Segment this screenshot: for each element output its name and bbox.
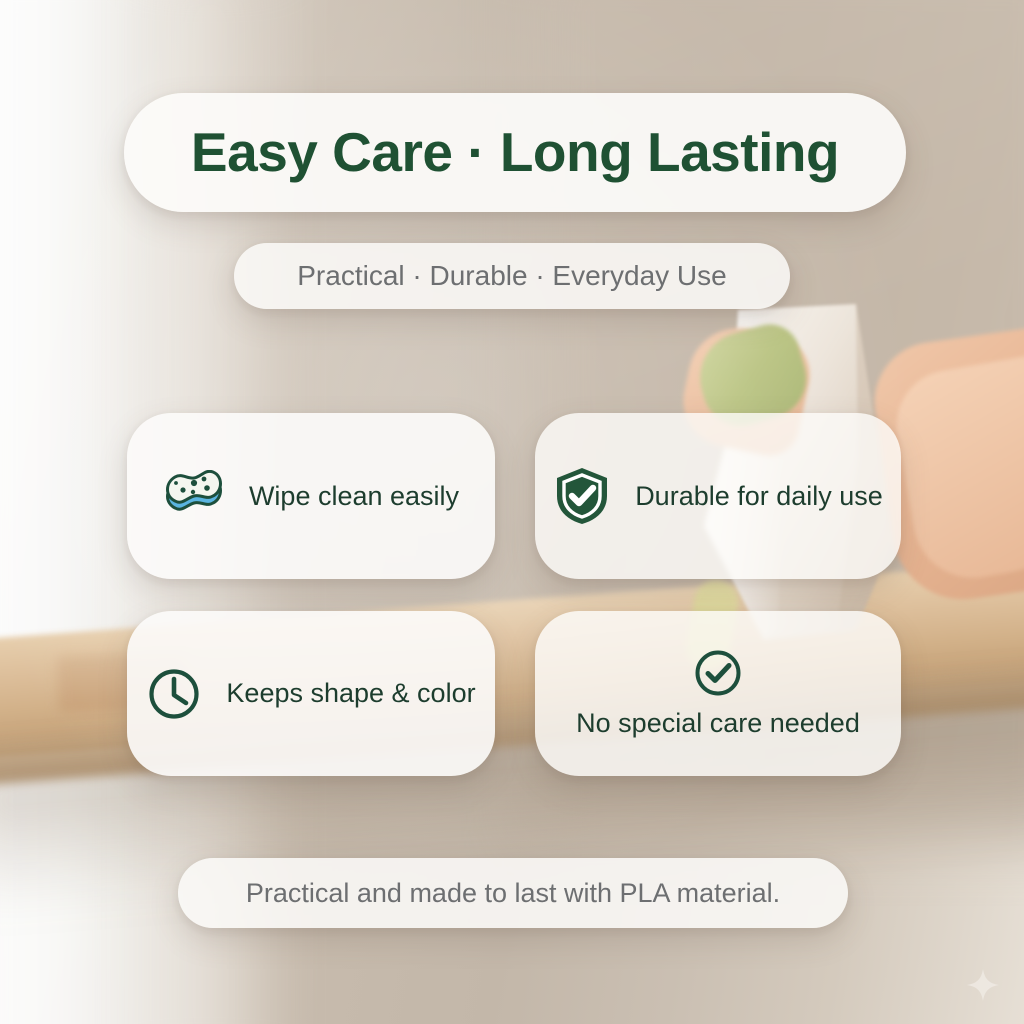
feature-card-wipe-clean[interactable]: Wipe clean easily [127, 413, 495, 579]
feature-label: Wipe clean easily [249, 481, 459, 512]
feature-label: Durable for daily use [635, 481, 883, 512]
clock-icon [146, 666, 202, 722]
feature-label: Keeps shape & color [226, 678, 475, 709]
feature-card-keeps-shape[interactable]: Keeps shape & color [127, 611, 495, 776]
sponge-icon [163, 470, 225, 522]
circle-check-icon [693, 648, 743, 698]
infographic-canvas: Easy Care · Long Lasting Practical · Dur… [0, 0, 1024, 1024]
subtitle-card: Practical · Durable · Everyday Use [234, 243, 790, 309]
page-title: Easy Care · Long Lasting [191, 125, 839, 180]
feature-label: No special care needed [576, 708, 860, 739]
footer-text: Practical and made to last with PLA mate… [246, 878, 780, 909]
shield-check-icon [553, 465, 611, 527]
footer-card: Practical and made to last with PLA mate… [178, 858, 848, 928]
page-subtitle: Practical · Durable · Everyday Use [297, 260, 726, 292]
feature-card-durable[interactable]: Durable for daily use [535, 413, 901, 579]
feature-card-no-special-care[interactable]: No special care needed [535, 611, 901, 776]
title-card: Easy Care · Long Lasting [124, 93, 906, 212]
sparkle-icon [966, 968, 1000, 1002]
